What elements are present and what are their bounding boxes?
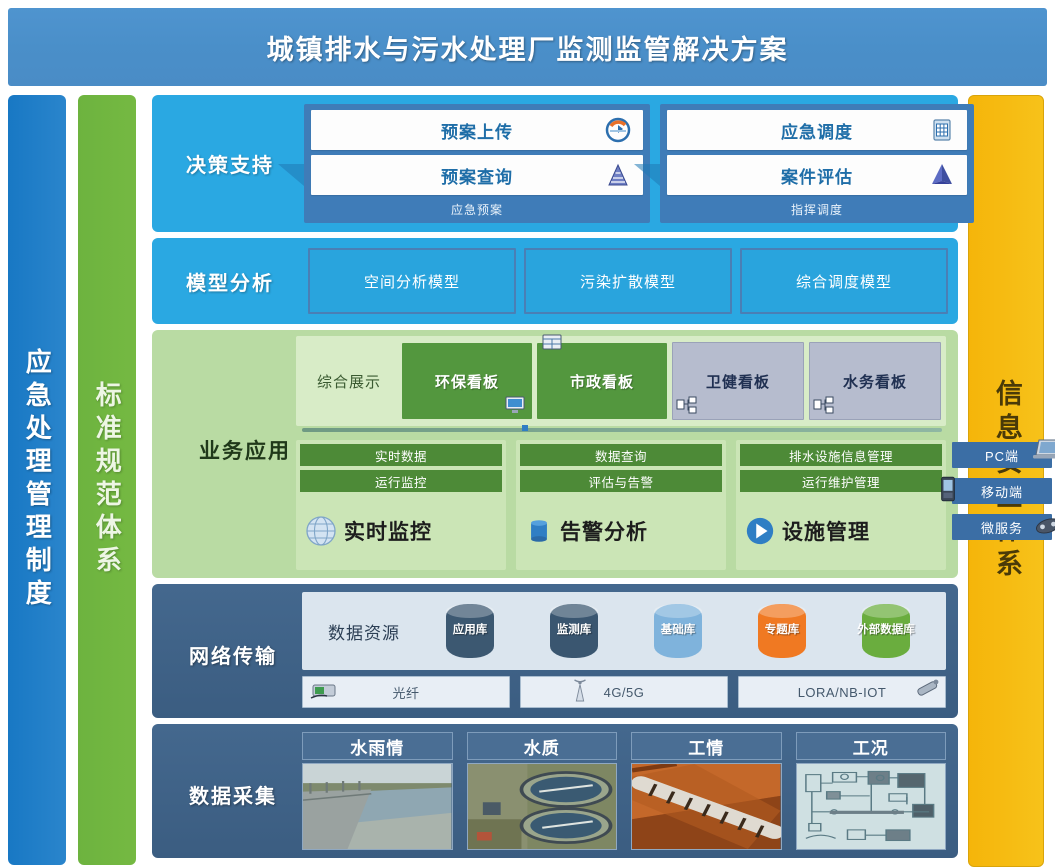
database-label: 外部数据库 bbox=[857, 624, 915, 637]
mobile-icon bbox=[938, 476, 966, 498]
database-basic[interactable]: 基础库 bbox=[648, 602, 708, 660]
database-external[interactable]: 外部数据库 bbox=[856, 602, 916, 660]
database-application[interactable]: 应用库 bbox=[440, 602, 500, 660]
decision-item-plan-query[interactable]: 预案查询 bbox=[311, 155, 643, 195]
kanban-environment[interactable]: 环保看板 bbox=[402, 343, 532, 419]
model-card-label: 综合调度模型 bbox=[796, 271, 892, 292]
database-monitoring[interactable]: 监测库 bbox=[544, 602, 604, 660]
network-link-label: 4G/5G bbox=[604, 685, 645, 700]
layer-decision-support: 决策支持 预案上传 预案查询 bbox=[152, 95, 958, 232]
pillar-emergency-management: 应急处理管理制度 bbox=[8, 95, 66, 865]
terminal-microservice[interactable]: 微服务 bbox=[952, 514, 1052, 540]
showcase-marker bbox=[522, 425, 528, 431]
model-card-label: 空间分析模型 bbox=[364, 271, 460, 292]
data-resource-label: 数据资源 bbox=[310, 619, 418, 644]
laptop-icon bbox=[1032, 437, 1055, 459]
kanban-municipal[interactable]: 市政看板 bbox=[537, 343, 667, 419]
kanban-water-affairs[interactable]: 水务看板 bbox=[809, 342, 941, 420]
sensor-icon bbox=[913, 677, 943, 697]
terminal-label: 移动端 bbox=[981, 482, 1023, 501]
business-feature-label: 实时监控 bbox=[344, 516, 432, 546]
globe-icon bbox=[304, 514, 338, 548]
network-link-label: 光纤 bbox=[392, 683, 419, 702]
architecture-layers: 决策支持 预案上传 预案查询 bbox=[152, 95, 958, 865]
model-card-integrated-dispatch[interactable]: 综合调度模型 bbox=[740, 248, 948, 314]
model-card-pollution-diffusion[interactable]: 污染扩散模型 bbox=[524, 248, 732, 314]
terminal-pc[interactable]: PC端 bbox=[952, 442, 1052, 468]
collect-item-water-quality[interactable]: 水质 bbox=[467, 732, 618, 850]
model-analysis-label: 模型分析 bbox=[160, 267, 300, 296]
business-feature-monitoring[interactable]: 实时监控 bbox=[300, 496, 502, 566]
business-strip[interactable]: 运行维护管理 bbox=[740, 470, 942, 492]
kanban-label: 卫健看板 bbox=[706, 371, 770, 392]
terminal-list: PC端 移动端 bbox=[952, 442, 1052, 540]
collect-caption: 水质 bbox=[467, 732, 618, 760]
business-strip-label: 运行监控 bbox=[375, 472, 427, 491]
business-feature-label: 告警分析 bbox=[560, 516, 648, 546]
database-label: 专题库 bbox=[765, 624, 800, 637]
data-collection-list: 水雨情 bbox=[302, 732, 946, 850]
business-strip[interactable]: 数据查询 bbox=[520, 444, 722, 466]
decision-item-label: 案件评估 bbox=[781, 163, 853, 188]
decision-item-plan-upload[interactable]: 预案上传 bbox=[311, 110, 643, 150]
node-icon bbox=[813, 395, 835, 415]
database-thematic[interactable]: 专题库 bbox=[752, 602, 812, 660]
layer-business-application: 业务应用 综合展示 环保看板 市政看板 bbox=[152, 330, 958, 578]
pillar-emergency-label: 应急处理管理制度 bbox=[23, 348, 52, 612]
data-resource-panel: 数据资源 应用库 监测库 基础库 bbox=[302, 592, 946, 670]
window-icon bbox=[541, 333, 563, 353]
business-strip-label: 排水设施信息管理 bbox=[789, 446, 893, 465]
scada-schematic-photo bbox=[796, 763, 947, 850]
pyramid-solid-icon bbox=[929, 162, 955, 188]
business-feature-alarm[interactable]: 告警分析 bbox=[520, 496, 722, 566]
collect-item-operating-condition[interactable]: 工况 bbox=[796, 732, 947, 850]
database-label: 基础库 bbox=[661, 624, 696, 637]
business-application-label: 业务应用 bbox=[180, 435, 310, 465]
business-strip-label: 数据查询 bbox=[595, 446, 647, 465]
model-card-label: 污染扩散模型 bbox=[580, 271, 676, 292]
decision-item-label: 预案上传 bbox=[441, 118, 513, 143]
database-label: 监测库 bbox=[557, 624, 592, 637]
business-column-facility: 排水设施信息管理 运行维护管理 设施管理 bbox=[736, 440, 946, 570]
business-strip-label: 评估与告警 bbox=[588, 472, 653, 491]
pointer-arrow bbox=[278, 164, 304, 186]
decision-item-label: 预案查询 bbox=[441, 163, 513, 188]
kanban-health[interactable]: 卫健看板 bbox=[672, 342, 804, 420]
kanban-label: 市政看板 bbox=[570, 371, 634, 392]
business-column-alarm: 数据查询 评估与告警 告警分析 bbox=[516, 440, 726, 570]
layer-model-analysis: 模型分析 空间分析模型 污染扩散模型 综合调度模型 bbox=[152, 238, 958, 324]
pipe-trench-photo bbox=[631, 763, 782, 850]
decision-group-caption: 应急预案 bbox=[311, 200, 643, 221]
play-icon bbox=[744, 515, 776, 547]
collect-caption: 工情 bbox=[631, 732, 782, 760]
terminal-label: 微服务 bbox=[981, 518, 1023, 537]
network-link-lora[interactable]: LORA/NB-IOT bbox=[738, 676, 946, 708]
showcase-row: 综合展示 环保看板 市政看板 bbox=[296, 336, 946, 426]
showcase-label: 综合展示 bbox=[301, 371, 397, 392]
pillar-standard-system: 标准规范体系 bbox=[78, 95, 136, 865]
database-list: 应用库 监测库 基础库 专题库 bbox=[418, 602, 938, 660]
collect-label: 水质 bbox=[524, 734, 560, 759]
collect-label: 水雨情 bbox=[350, 734, 404, 759]
kanban-label: 环保看板 bbox=[435, 371, 499, 392]
layer-data-collection: 数据采集 水雨情 bbox=[152, 724, 958, 858]
page-title: 城镇排水与污水处理厂监测监管解决方案 bbox=[267, 28, 789, 67]
business-strip-label: 实时数据 bbox=[375, 446, 427, 465]
terminal-label: PC端 bbox=[985, 446, 1019, 465]
business-feature-label: 设施管理 bbox=[782, 516, 870, 546]
pointer-arrow bbox=[634, 164, 660, 186]
business-strip-label: 运行维护管理 bbox=[802, 472, 880, 491]
decision-item-label: 应急调度 bbox=[781, 118, 853, 143]
business-strip[interactable]: 排水设施信息管理 bbox=[740, 444, 942, 466]
collect-caption: 工况 bbox=[796, 732, 947, 760]
business-strip[interactable]: 运行监控 bbox=[300, 470, 502, 492]
monitor-icon bbox=[504, 395, 526, 415]
collect-caption: 水雨情 bbox=[302, 732, 453, 760]
business-columns: 实时数据 运行监控 实时监控 bbox=[296, 440, 946, 570]
sedimentation-tank-photo bbox=[467, 763, 618, 850]
network-transmission-label: 网络传输 bbox=[168, 640, 298, 669]
node-icon bbox=[676, 395, 698, 415]
collect-label: 工况 bbox=[853, 734, 889, 759]
grid-table-icon bbox=[929, 117, 955, 143]
decision-group-emergency-plan: 预案上传 预案查询 bbox=[304, 104, 650, 223]
recycle-icon bbox=[605, 117, 631, 143]
page-title-bar: 城镇排水与污水处理厂监测监管解决方案 bbox=[8, 8, 1047, 86]
terminal-mobile[interactable]: 移动端 bbox=[952, 478, 1052, 504]
antenna-icon bbox=[569, 677, 599, 697]
business-strip[interactable]: 实时数据 bbox=[300, 444, 502, 466]
service-icon bbox=[1034, 514, 1055, 536]
layer-network-transmission: 网络传输 数据资源 应用库 监测库 基础库 bbox=[152, 584, 958, 718]
decision-group-command-dispatch: 应急调度 案件评估 bbox=[660, 104, 974, 223]
business-column-monitoring: 实时数据 运行监控 实时监控 bbox=[296, 440, 506, 570]
fiber-icon bbox=[309, 681, 339, 701]
decision-item-emergency-dispatch[interactable]: 应急调度 bbox=[667, 110, 967, 150]
database-label: 应用库 bbox=[453, 624, 488, 637]
network-link-cellular[interactable]: 4G/5G bbox=[520, 676, 728, 708]
kanban-label: 水务看板 bbox=[843, 371, 907, 392]
data-collection-label: 数据采集 bbox=[168, 780, 298, 809]
pyramid-chart-icon bbox=[605, 162, 631, 188]
pillar-standard-label: 标准规范体系 bbox=[93, 381, 122, 579]
collect-label: 工情 bbox=[688, 734, 724, 759]
database-icon bbox=[524, 514, 554, 548]
business-strip[interactable]: 评估与告警 bbox=[520, 470, 722, 492]
solution-architecture-diagram: 城镇排水与污水处理厂监测监管解决方案 应急处理管理制度 标准规范体系 信息安全体… bbox=[0, 0, 1055, 868]
network-link-list: 光纤 4G/5G LORA/NB-IOT bbox=[302, 676, 946, 708]
collect-item-project-status[interactable]: 工情 bbox=[631, 732, 782, 850]
decision-item-case-evaluation[interactable]: 案件评估 bbox=[667, 155, 967, 195]
decision-group-caption: 指挥调度 bbox=[667, 200, 967, 221]
collect-item-water-rain[interactable]: 水雨情 bbox=[302, 732, 453, 850]
river-embankment-photo bbox=[302, 763, 453, 850]
showcase-underline bbox=[302, 428, 942, 432]
business-feature-facility[interactable]: 设施管理 bbox=[740, 496, 942, 566]
model-card-spatial[interactable]: 空间分析模型 bbox=[308, 248, 516, 314]
network-link-label: LORA/NB-IOT bbox=[798, 685, 887, 700]
network-link-fiber[interactable]: 光纤 bbox=[302, 676, 510, 708]
